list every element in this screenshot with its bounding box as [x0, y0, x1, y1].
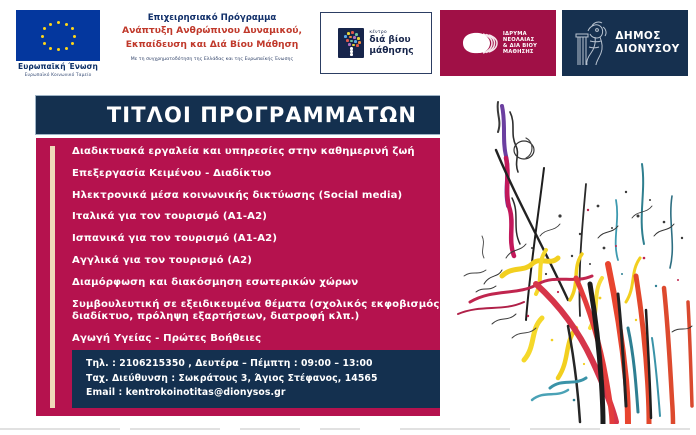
- operational-programme-block: Επιχειρησιακό Πρόγραμμα Ανάπτυξη Ανθρώπι…: [108, 12, 316, 62]
- contact-address: Ταχ. Διεύθυνση : Σωκράτους 3, Άγιος Στέφ…: [86, 372, 476, 386]
- contact-email: Email : kentrokoinotitas@dionysos.gr: [86, 386, 476, 400]
- kdvm-line-2: διά βίου: [369, 35, 413, 45]
- inedivim-line-4: ΜΑΘΗΣΗΣ: [503, 49, 537, 55]
- municipality-logo: ΔΗΜΟΣ ΔΙΟΝΥΣΟΥ: [562, 10, 688, 76]
- list-item: Επεξεργασία Κειμένου - Διαδίκτυο: [72, 168, 476, 180]
- inedivim-logo: ΙΔΡΥΜΑ ΝΕΟΛΑΙΑΣ & ΔΙΑ ΒΙΟΥ ΜΑΘΗΣΗΣ: [440, 10, 556, 76]
- eu-logo: Ευρωπαϊκή Ένωση Ευρωπαϊκό Κοινωνικό Ταμε…: [16, 10, 100, 78]
- op-fine-print: Με τη συγχρηματοδότηση της Ελλάδας και τ…: [108, 57, 316, 62]
- list-item: Ιταλικά για τον τουρισμό (Α1-Α2): [72, 211, 476, 223]
- poster-canvas: Ευρωπαϊκή Ένωση Ευρωπαϊκό Κοινωνικό Ταμε…: [0, 0, 696, 435]
- kdvm-line-3: μάθησης: [369, 46, 413, 56]
- list-item: Συμβουλευτική σε εξειδικευμένα θέματα (σ…: [72, 299, 476, 324]
- courses-panel: Διαδικτυακά εργαλεία και υπηρεσίες στην …: [36, 138, 488, 416]
- list-item: Αγγλικά για τον τουρισμό (Α2): [72, 255, 476, 267]
- paint-splatter-artwork: [440, 88, 696, 424]
- list-item: Διαδικτυακά εργαλεία και υπηρεσίες στην …: [72, 146, 476, 158]
- list-item: Διαμόρφωση και διακόσμηση εσωτερικών χώρ…: [72, 277, 476, 289]
- eu-logo-subcaption: Ευρωπαϊκό Κοινωνικό Ταμείο: [16, 73, 100, 78]
- bottom-smear-band: [0, 424, 696, 435]
- eu-flag-icon: [16, 10, 100, 61]
- shell-icon: [459, 30, 499, 56]
- op-line-2: Ανάπτυξη Ανθρώπινου Δυναμικού,: [108, 24, 316, 37]
- page-title: ΤΙΤΛΟΙ ΠΡΟΓΡΑΜΜΑΤΩΝ: [107, 103, 417, 127]
- course-list: Διαδικτυακά εργαλεία και υπηρεσίες στην …: [72, 146, 476, 376]
- list-item: Ηλεκτρονικά μέσα κοινωνικής δικτύωσης (S…: [72, 190, 476, 202]
- dionysos-statue-icon: [570, 17, 612, 69]
- municipality-line-1: ΔΗΜΟΣ: [615, 30, 679, 43]
- eu-logo-caption: Ευρωπαϊκή Ένωση: [16, 63, 100, 72]
- contact-box: Τηλ. : 2106215350 , Δευτέρα – Πέμπτη : 0…: [72, 350, 476, 408]
- panel-accent-stripe: [50, 146, 55, 408]
- municipality-line-2: ΔΙΟΝΥΣΟΥ: [615, 43, 679, 56]
- op-line-1: Επιχειρησιακό Πρόγραμμα: [108, 12, 316, 24]
- poster-title-bar: ΤΙΤΛΟΙ ΠΡΟΓΡΑΜΜΑΤΩΝ: [36, 96, 488, 134]
- list-item: Ισπανικά για τον τουρισμό (Α1-Α2): [72, 233, 476, 245]
- lifelong-learning-centre-logo: κέντρο διά βίου μάθησης: [320, 12, 432, 74]
- brain-tree-icon: [338, 28, 364, 58]
- header-logo-strip: Ευρωπαϊκή Ένωση Ευρωπαϊκό Κοινωνικό Ταμε…: [0, 0, 696, 88]
- list-item: Αγωγή Υγείας - Πρώτες Βοήθειες: [72, 333, 476, 345]
- op-line-3: Εκπαίδευση και Διά Βίου Μάθηση: [108, 38, 316, 51]
- contact-phone: Τηλ. : 2106215350 , Δευτέρα – Πέμπτη : 0…: [86, 357, 476, 371]
